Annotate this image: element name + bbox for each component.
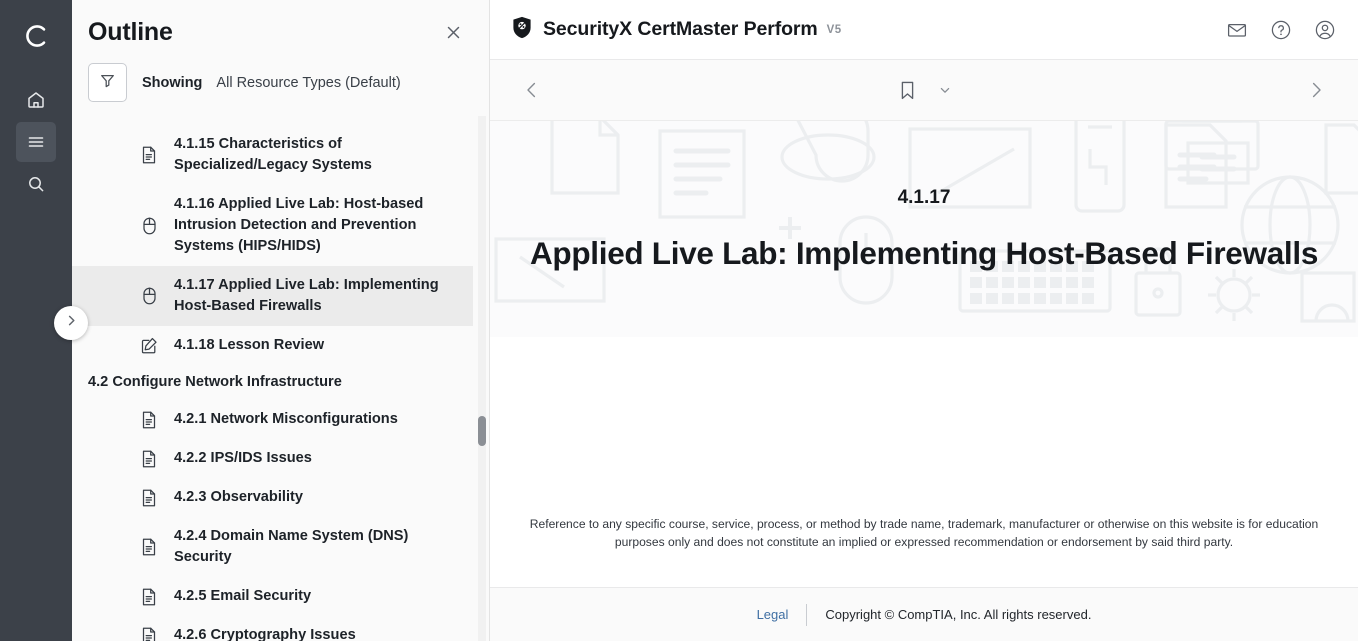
menu-icon	[26, 132, 46, 152]
left-nav-rail	[0, 0, 72, 641]
page-title: Outline	[88, 18, 173, 47]
next-page-button[interactable]	[1306, 80, 1326, 100]
chevron-right-icon	[65, 314, 78, 332]
page-footer: Legal Copyright © CompTIA, Inc. All righ…	[490, 587, 1358, 641]
outline-list-item[interactable]: 4.1.16 Applied Live Lab: Host-based Intr…	[72, 185, 473, 266]
filter-funnel-icon	[99, 72, 116, 94]
mouse-icon	[138, 287, 160, 305]
outline-list-item[interactable]: 4.2.2 IPS/IDS Issues	[72, 439, 473, 478]
pencil-square-icon	[138, 337, 160, 354]
main-content: SecurityX CertMaster Perform V5	[490, 0, 1358, 641]
sidebar-item-home[interactable]	[16, 80, 56, 120]
outline-item-label: 4.2.3 Observability	[174, 487, 303, 508]
outline-list-item[interactable]: 4.2.1 Network Misconfigurations	[72, 400, 473, 439]
content-toolbar	[490, 60, 1358, 121]
outline-scrollbar-thumb[interactable]	[478, 416, 486, 446]
lesson-number: 4.1.17	[898, 187, 951, 209]
chevron-right-icon	[1306, 80, 1326, 100]
comptia-c-logo-icon[interactable]	[14, 14, 58, 58]
bookmark-dropdown-button[interactable]	[938, 83, 952, 97]
outline-list-item[interactable]: 4.2.5 Email Security	[72, 577, 473, 616]
outline-list-item[interactable]: 4.2.4 Domain Name System (DNS) Security	[72, 517, 473, 577]
search-icon	[26, 174, 46, 194]
close-icon	[444, 23, 463, 42]
filter-button[interactable]	[88, 63, 127, 102]
brand: SecurityX CertMaster Perform V5	[512, 16, 842, 44]
outline-item-label: 4.2.6 Cryptography Issues	[174, 625, 356, 641]
document-icon	[138, 538, 160, 556]
outline-item-label: 4.1.17 Applied Live Lab: Implementing Ho…	[174, 275, 459, 317]
outline-item-label: 4.2.2 IPS/IDS Issues	[174, 448, 312, 469]
bookmark-icon	[897, 79, 918, 102]
outline-panel: Outline Showing All Resource Types (Defa…	[72, 0, 490, 641]
outline-section-label: 4.2 Configure Network Infrastructure	[88, 372, 342, 393]
sidebar-item-outline-menu[interactable]	[16, 122, 56, 162]
close-outline-button[interactable]	[440, 19, 467, 46]
chevron-down-icon	[938, 83, 952, 97]
app-header: SecurityX CertMaster Perform V5	[490, 0, 1358, 60]
home-icon	[26, 90, 46, 110]
mail-icon[interactable]	[1226, 19, 1248, 41]
mouse-icon	[138, 217, 160, 235]
outline-scrollbar-track[interactable]	[478, 116, 486, 641]
document-icon	[138, 627, 160, 641]
app-title: SecurityX CertMaster Perform	[543, 18, 818, 41]
bookmark-button[interactable]	[897, 79, 918, 102]
app-root: Outline Showing All Resource Types (Defa…	[0, 0, 1358, 641]
lesson-title: Applied Live Lab: Implementing Host-Base…	[530, 235, 1318, 272]
outline-item-label: 4.2.5 Email Security	[174, 586, 311, 607]
document-icon	[138, 588, 160, 606]
previous-page-button[interactable]	[522, 80, 542, 100]
disclaimer-text: Reference to any specific course, servic…	[529, 516, 1319, 587]
help-circle-icon[interactable]	[1270, 19, 1292, 41]
chevron-left-icon	[522, 80, 542, 100]
lesson-body: Reference to any specific course, servic…	[490, 337, 1358, 641]
outline-item-label: 4.1.15 Characteristics of Specialized/Le…	[174, 134, 459, 176]
document-icon	[138, 450, 160, 468]
copyright-text: Copyright © CompTIA, Inc. All rights res…	[807, 607, 1091, 622]
header-actions	[1226, 19, 1336, 41]
outline-list-item[interactable]: 4.2.6 Cryptography Issues	[72, 616, 473, 641]
toolbar-center	[490, 79, 1358, 102]
document-icon	[138, 411, 160, 429]
outline-section-header[interactable]: 4.2 Configure Network Infrastructure	[72, 365, 473, 400]
outline-list-item[interactable]: 4.1.15 Characteristics of Specialized/Le…	[72, 125, 473, 185]
outline-item-label: 4.1.16 Applied Live Lab: Host-based Intr…	[174, 194, 459, 257]
outline-list-item[interactable]: 4.1.17 Applied Live Lab: Implementing Ho…	[72, 266, 473, 326]
version-badge: V5	[827, 24, 842, 36]
outline-item-label: 4.2.1 Network Misconfigurations	[174, 409, 398, 430]
expand-panel-button[interactable]	[54, 306, 88, 340]
account-circle-icon[interactable]	[1314, 19, 1336, 41]
filter-showing-label: Showing	[142, 75, 202, 91]
outline-list-item[interactable]: 4.1.18 Lesson Review	[72, 326, 473, 365]
outline-item-label: 4.2.4 Domain Name System (DNS) Security	[174, 526, 459, 568]
document-icon	[138, 146, 160, 164]
legal-link[interactable]: Legal	[757, 607, 807, 622]
lesson-hero-banner: 4.1.17 Applied Live Lab: Implementing Ho…	[490, 121, 1358, 337]
outline-item-label: 4.1.18 Lesson Review	[174, 335, 324, 356]
outline-list-item[interactable]: 4.2.3 Observability	[72, 478, 473, 517]
document-icon	[138, 489, 160, 507]
hero-background-pattern	[490, 121, 1358, 337]
outline-list: 4.1.15 Characteristics of Specialized/Le…	[72, 116, 489, 641]
sidebar-item-search[interactable]	[16, 164, 56, 204]
filter-row: Showing All Resource Types (Default)	[72, 57, 489, 116]
filter-value[interactable]: All Resource Types (Default)	[216, 75, 400, 91]
outline-header: Outline	[72, 0, 489, 57]
shield-icon	[512, 16, 532, 44]
